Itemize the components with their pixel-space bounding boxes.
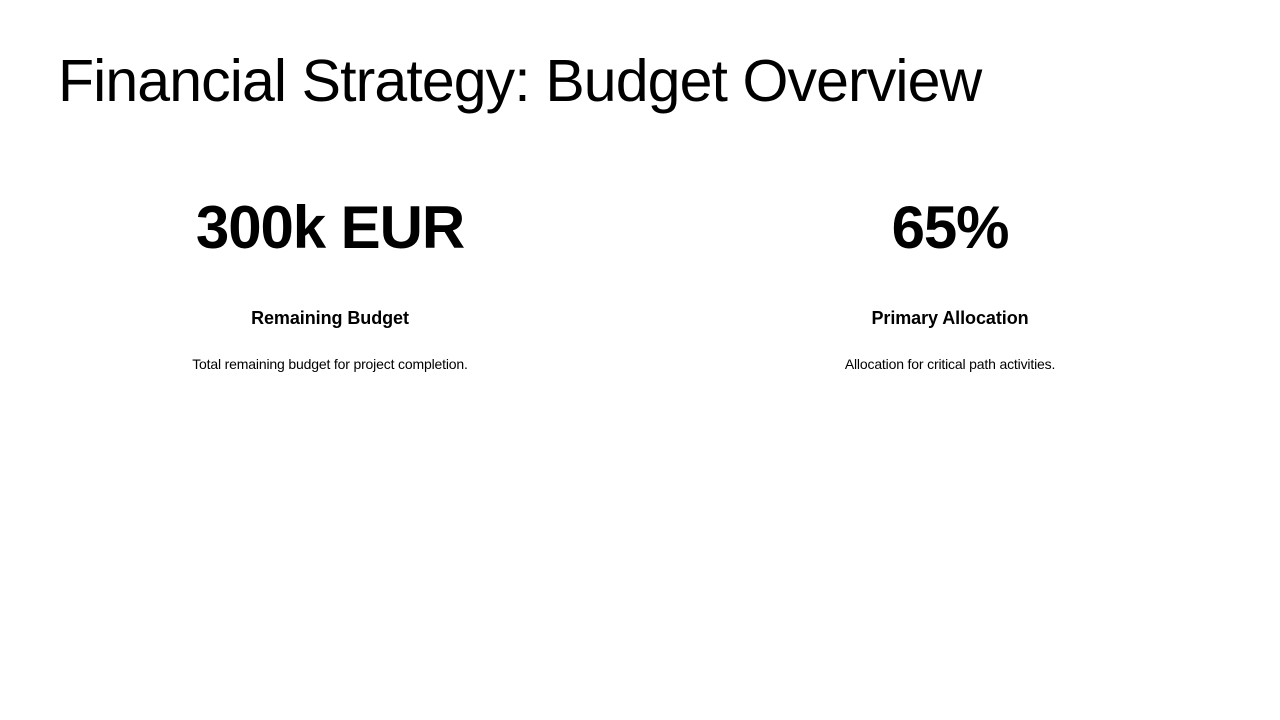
- metrics-row: 300k EUR Remaining Budget Total remainin…: [20, 196, 1260, 373]
- metric-card-primary-allocation: 65% Primary Allocation Allocation for cr…: [640, 196, 1260, 373]
- metric-caption: Allocation for critical path activities.: [845, 355, 1055, 373]
- metric-value: 300k EUR: [196, 196, 464, 259]
- metric-label: Primary Allocation: [871, 308, 1028, 330]
- metric-label: Remaining Budget: [251, 308, 409, 330]
- metric-value: 65%: [892, 196, 1009, 259]
- metric-card-remaining-budget: 300k EUR Remaining Budget Total remainin…: [20, 196, 640, 373]
- slide-canvas: Financial Strategy: Budget Overview 300k…: [0, 0, 1280, 720]
- page-title: Financial Strategy: Budget Overview: [58, 52, 981, 111]
- metric-caption: Total remaining budget for project compl…: [192, 355, 468, 373]
